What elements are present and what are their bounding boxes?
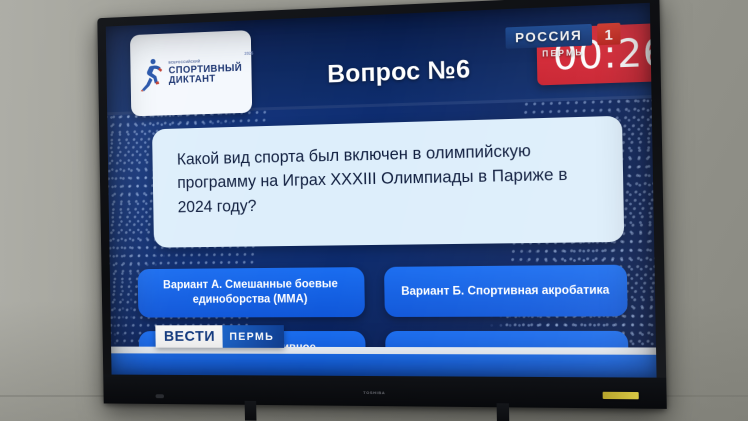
tv-stand-leg-right xyxy=(497,403,510,421)
channel-logo: РОССИЯ 1 ПЕРМЬ xyxy=(485,22,642,69)
slide-bottom-blue-band xyxy=(111,353,656,377)
question-text: Какой вид спорта был включен в олимпийск… xyxy=(177,137,596,219)
tv-stand-leg-left xyxy=(245,401,257,421)
program-bug: ВЕСТИ ПЕРМЬ xyxy=(155,325,284,348)
tv-ir-sensor xyxy=(156,394,164,398)
program-region: ПЕРМЬ xyxy=(223,325,284,348)
screenshot-root: ВСЕРОССИЙСКИЙ СПОРТИВНЫЙ ДИКТАНТ 2025 Во… xyxy=(0,0,748,421)
tv-screen: ВСЕРОССИЙСКИЙ СПОРТИВНЫЙ ДИКТАНТ 2025 Во… xyxy=(106,3,657,378)
runner-icon xyxy=(139,58,164,92)
answer-option-a[interactable]: Вариант А. Смешанные боевые единоборства… xyxy=(138,267,365,318)
tv-energy-sticker xyxy=(603,392,639,400)
presentation-slide: ВСЕРОССИЙСКИЙ СПОРТИВНЫЙ ДИКТАНТ 2025 Во… xyxy=(106,3,657,378)
sportivny-diktant-logo: ВСЕРОССИЙСКИЙ СПОРТИВНЫЙ ДИКТАНТ 2025 xyxy=(130,30,252,116)
logo-line-2: ДИКТАНТ xyxy=(169,74,243,87)
channel-logo-row: РОССИЯ 1 xyxy=(506,23,621,49)
television: ВСЕРОССИЙСКИЙ СПОРТИВНЫЙ ДИКТАНТ 2025 Во… xyxy=(97,0,666,409)
program-name: ВЕСТИ xyxy=(155,325,223,348)
question-number: Вопрос №6 xyxy=(327,55,471,89)
channel-region: ПЕРМЬ xyxy=(542,48,584,59)
answer-option-b[interactable]: Вариант Б. Спортивная акробатика xyxy=(384,265,628,317)
tv-chin: TOSHIBA xyxy=(103,375,667,409)
tv-brand-label: TOSHIBA xyxy=(363,390,385,395)
channel-number: 1 xyxy=(597,23,621,46)
question-card: Какой вид спорта был включен в олимпийск… xyxy=(152,116,624,248)
logo-wordmark: ВСЕРОССИЙСКИЙ СПОРТИВНЫЙ ДИКТАНТ 2025 xyxy=(168,59,242,87)
channel-name: РОССИЯ xyxy=(506,24,592,49)
logo-year: 2025 xyxy=(244,52,253,57)
